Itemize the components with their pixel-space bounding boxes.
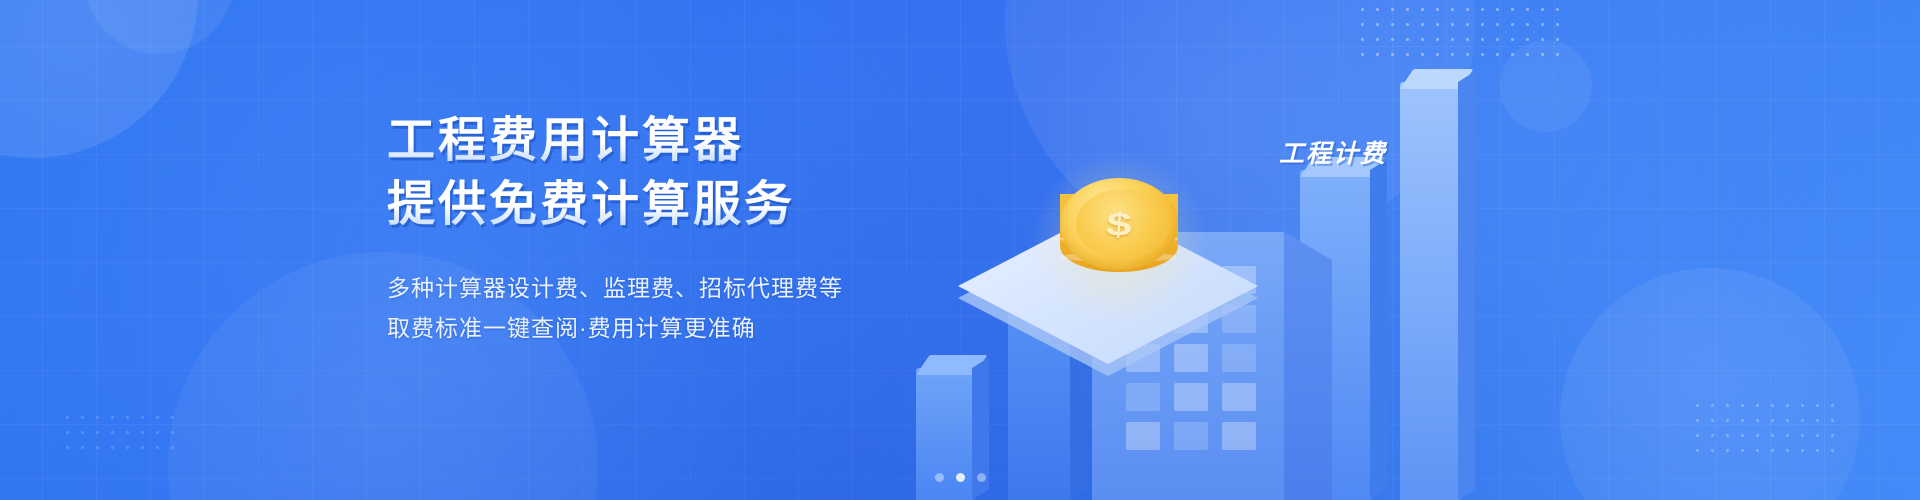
promo-banner: 工程费用计算器 提供免费计算服务 多种计算器设计费、监理费、招标代理费等 取费标… bbox=[0, 0, 1920, 500]
tower-window bbox=[1222, 383, 1256, 411]
dot-matrix-bottom-left bbox=[60, 410, 180, 456]
carousel-dot-1[interactable] bbox=[935, 473, 944, 482]
engineering-fee-badge: 工程计费 bbox=[1279, 134, 1387, 170]
building-bar-4 bbox=[1400, 82, 1460, 500]
dot-matrix-bottom-right bbox=[1690, 398, 1840, 460]
tower-window bbox=[1222, 422, 1256, 450]
dollar-sign-icon: $ bbox=[1058, 194, 1180, 254]
building-bar-4-side bbox=[1458, 71, 1475, 500]
gold-coin-icon: $ bbox=[1056, 178, 1184, 298]
building-bar-3-side bbox=[1370, 159, 1387, 500]
carousel-dot-3[interactable] bbox=[977, 473, 986, 482]
tower-window bbox=[1174, 422, 1208, 450]
coin-top-face: $ bbox=[1060, 178, 1178, 270]
banner-illustration: $ bbox=[880, 0, 1580, 500]
tower-window bbox=[1126, 422, 1160, 450]
carousel-dot-2[interactable] bbox=[956, 473, 965, 482]
tower-window bbox=[1126, 383, 1160, 411]
tower-window bbox=[1174, 383, 1208, 411]
main-tower-side-face bbox=[1284, 232, 1332, 500]
carousel-dots[interactable] bbox=[0, 473, 1920, 482]
